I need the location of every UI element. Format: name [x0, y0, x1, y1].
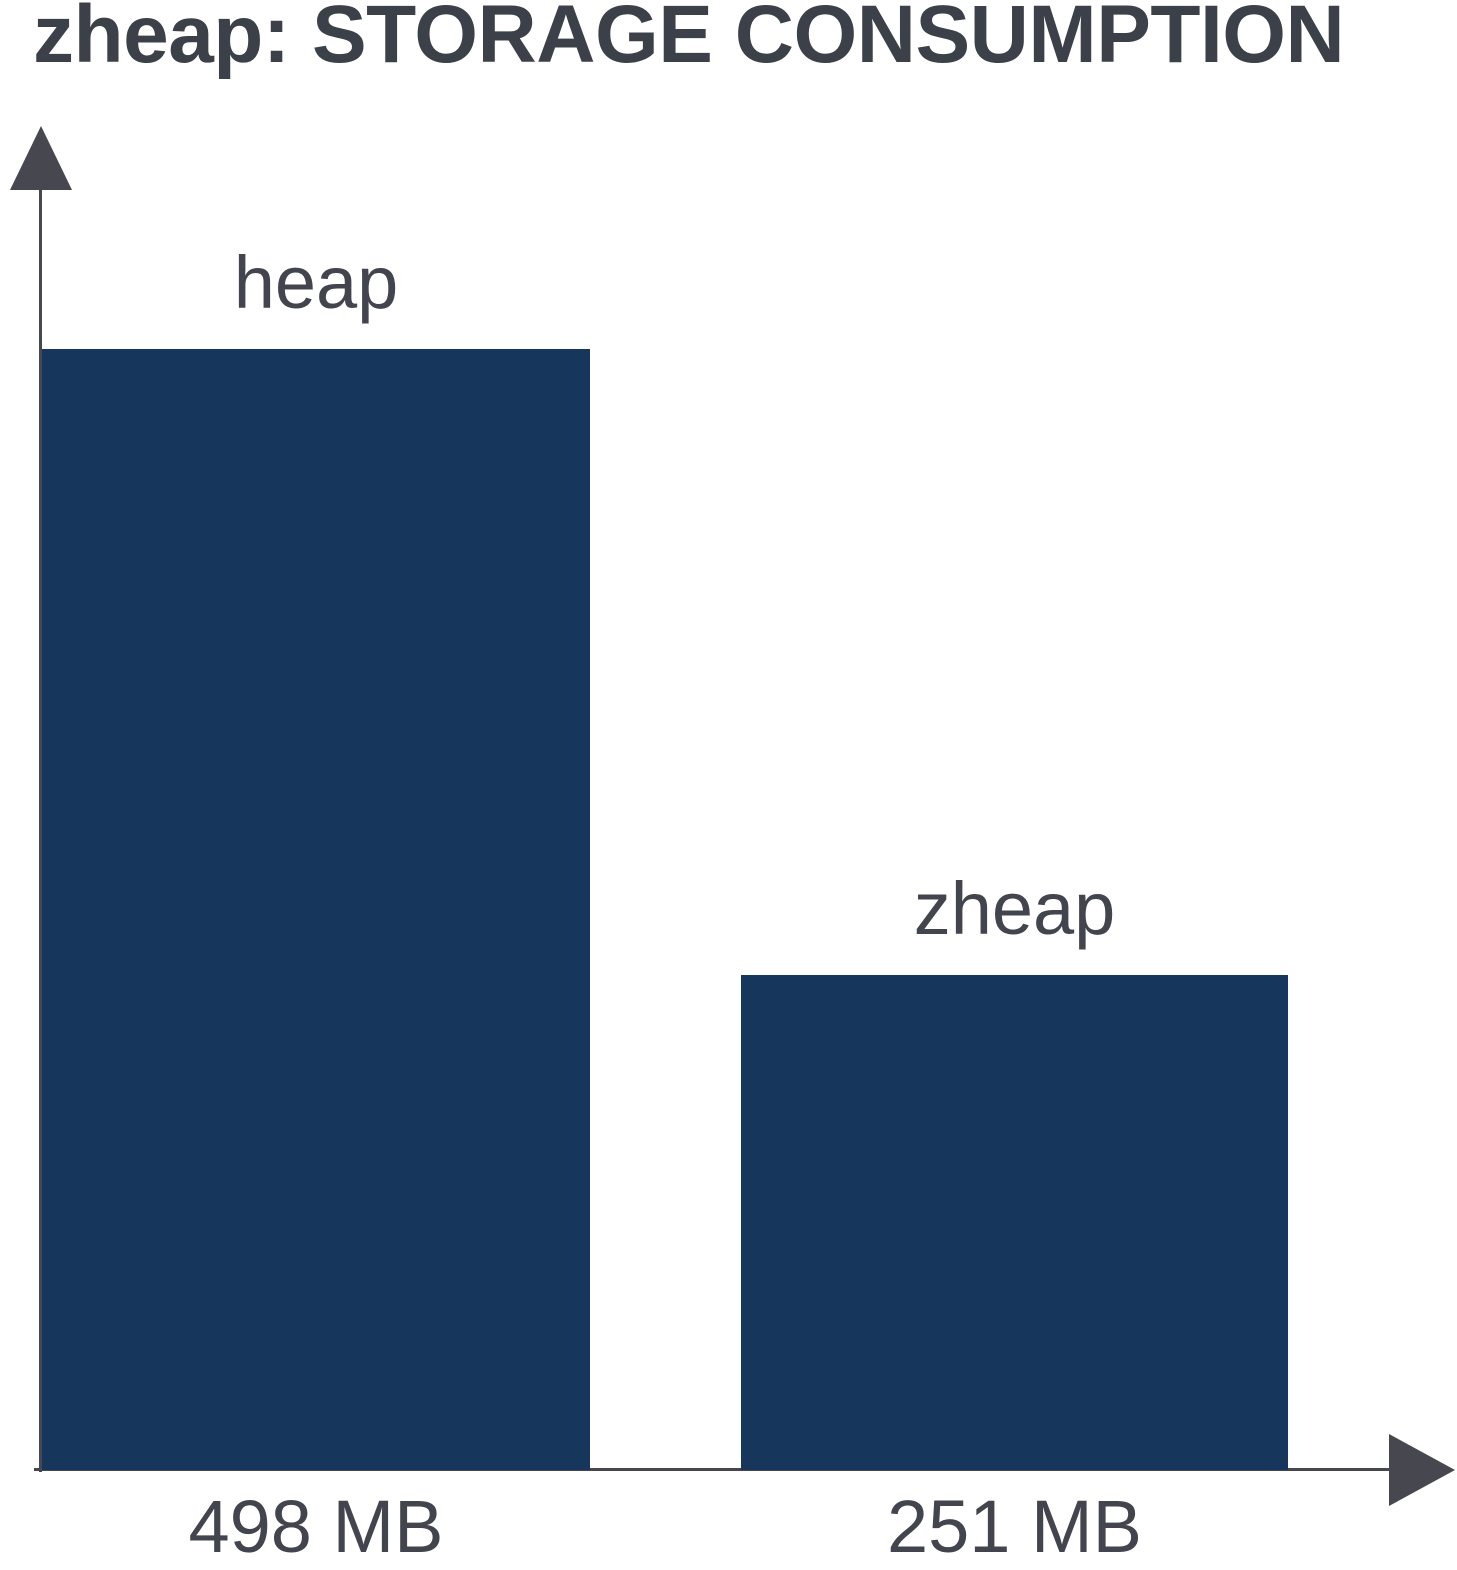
y-axis-arrow-icon [10, 126, 72, 190]
bar-heap [42, 349, 590, 1470]
chart-canvas: zheap: STORAGE CONSUMPTION heap zheap 49… [0, 0, 1457, 1570]
x-axis-arrow-icon [1389, 1434, 1455, 1506]
chart-title: zheap: STORAGE CONSUMPTION [33, 0, 1344, 76]
bar-label-heap: heap [42, 246, 590, 320]
bar-zheap [741, 975, 1288, 1470]
bar-value-zheap: 251 MB [741, 1490, 1288, 1564]
bar-label-zheap: zheap [741, 872, 1288, 946]
bar-value-heap: 498 MB [42, 1490, 590, 1564]
